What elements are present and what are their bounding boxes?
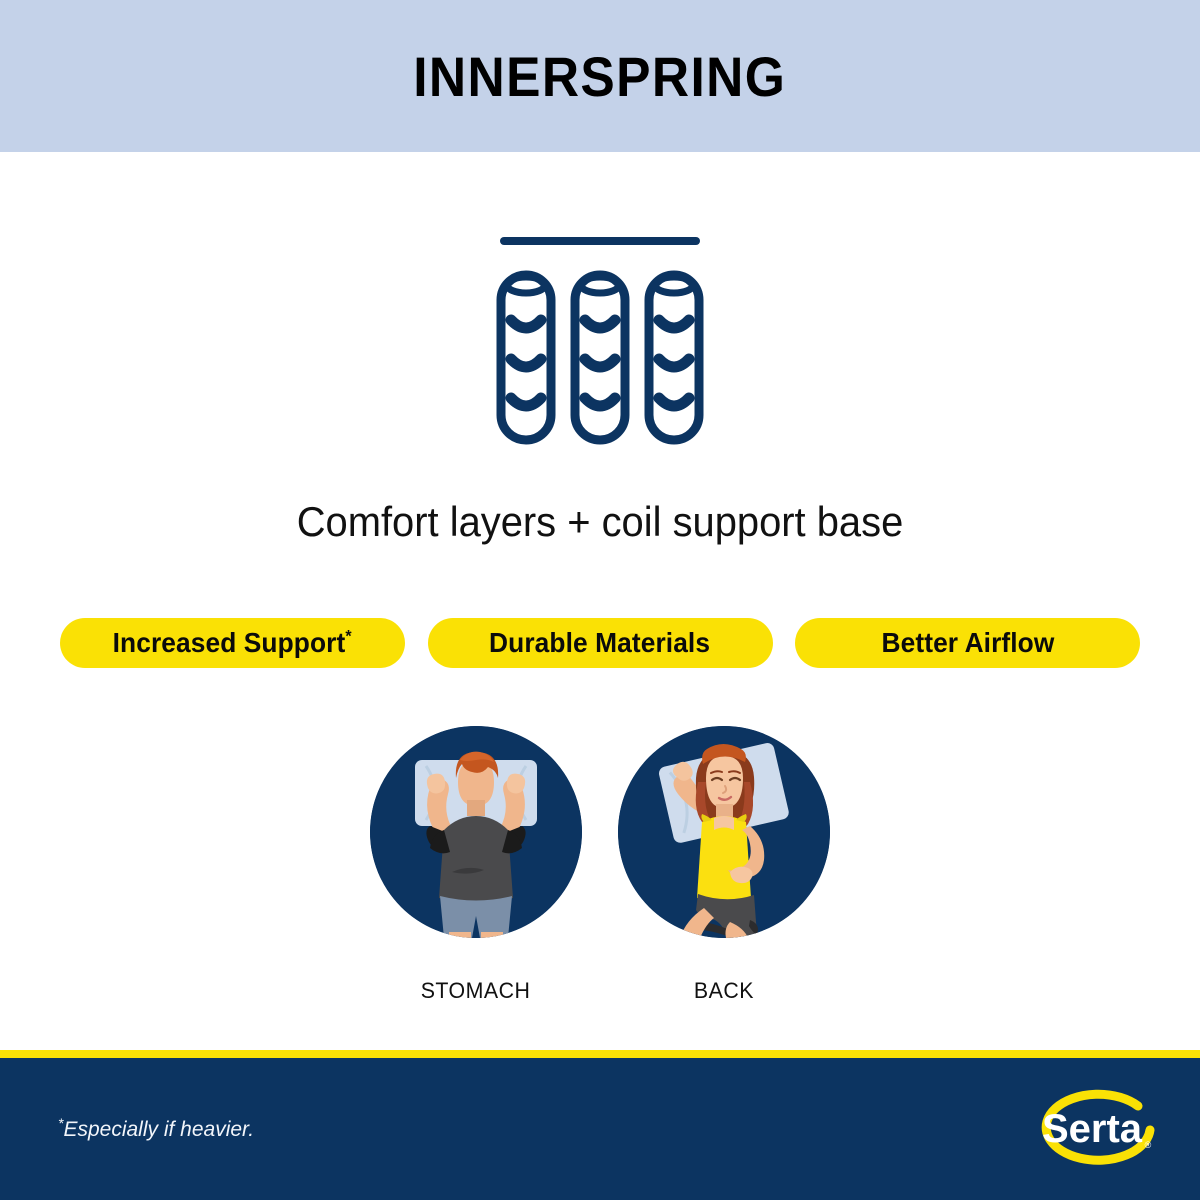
feature-pill-label: Increased Support* [113,627,352,659]
feature-pill-text: Better Airflow [881,627,1054,658]
tank-top [697,814,751,903]
feature-pill-increased-support[interactable]: Increased Support* [60,618,405,668]
footer-accent-stripe [0,1050,1200,1058]
header-band: INNERSPRING [0,0,1200,152]
coil-stack-icon [486,228,714,446]
footnote-body: Especially if heavier. [63,1118,254,1141]
feature-pill-label: Better Airflow [881,627,1054,659]
tagline-text: Comfort layers + coil support base [30,498,1170,546]
stomach-sleeper-illustration [370,726,582,938]
back-sleeper-illustration [618,726,830,938]
infographic-page: INNERSPRING [0,0,1200,1200]
coil-cylinder-1 [501,275,551,440]
feature-pill-text: Durable Materials [489,627,710,658]
feature-pill-better-airflow[interactable]: Better Airflow [795,618,1140,668]
coil-cylinder-2 [575,275,625,440]
feature-pill-row: Increased Support* Durable Materials Bet… [60,618,1140,668]
footnote-text: *Especially if heavier. [58,1118,254,1142]
coil-top-bar [500,237,700,245]
serta-wordmark: Serta [1042,1107,1143,1151]
sleeper-item-back: BACK [618,726,830,1016]
coil-cylinder-3 [649,275,699,440]
feature-pill-durable-materials[interactable]: Durable Materials [428,618,773,668]
sleeper-label-back: BACK [694,978,754,1004]
sleeper-item-stomach: STOMACH [370,726,582,1016]
page-title: INNERSPRING [413,44,786,109]
feature-pill-text: Increased Support [113,627,346,658]
sleeper-label-stomach: STOMACH [421,978,531,1004]
sleeper-position-row: STOMACH [370,726,830,1016]
registered-mark: ® [1145,1140,1152,1150]
feature-pill-footnote-marker: * [346,627,352,646]
feature-pill-label: Durable Materials [489,627,710,659]
serta-logo: Serta ® [1030,1086,1162,1172]
